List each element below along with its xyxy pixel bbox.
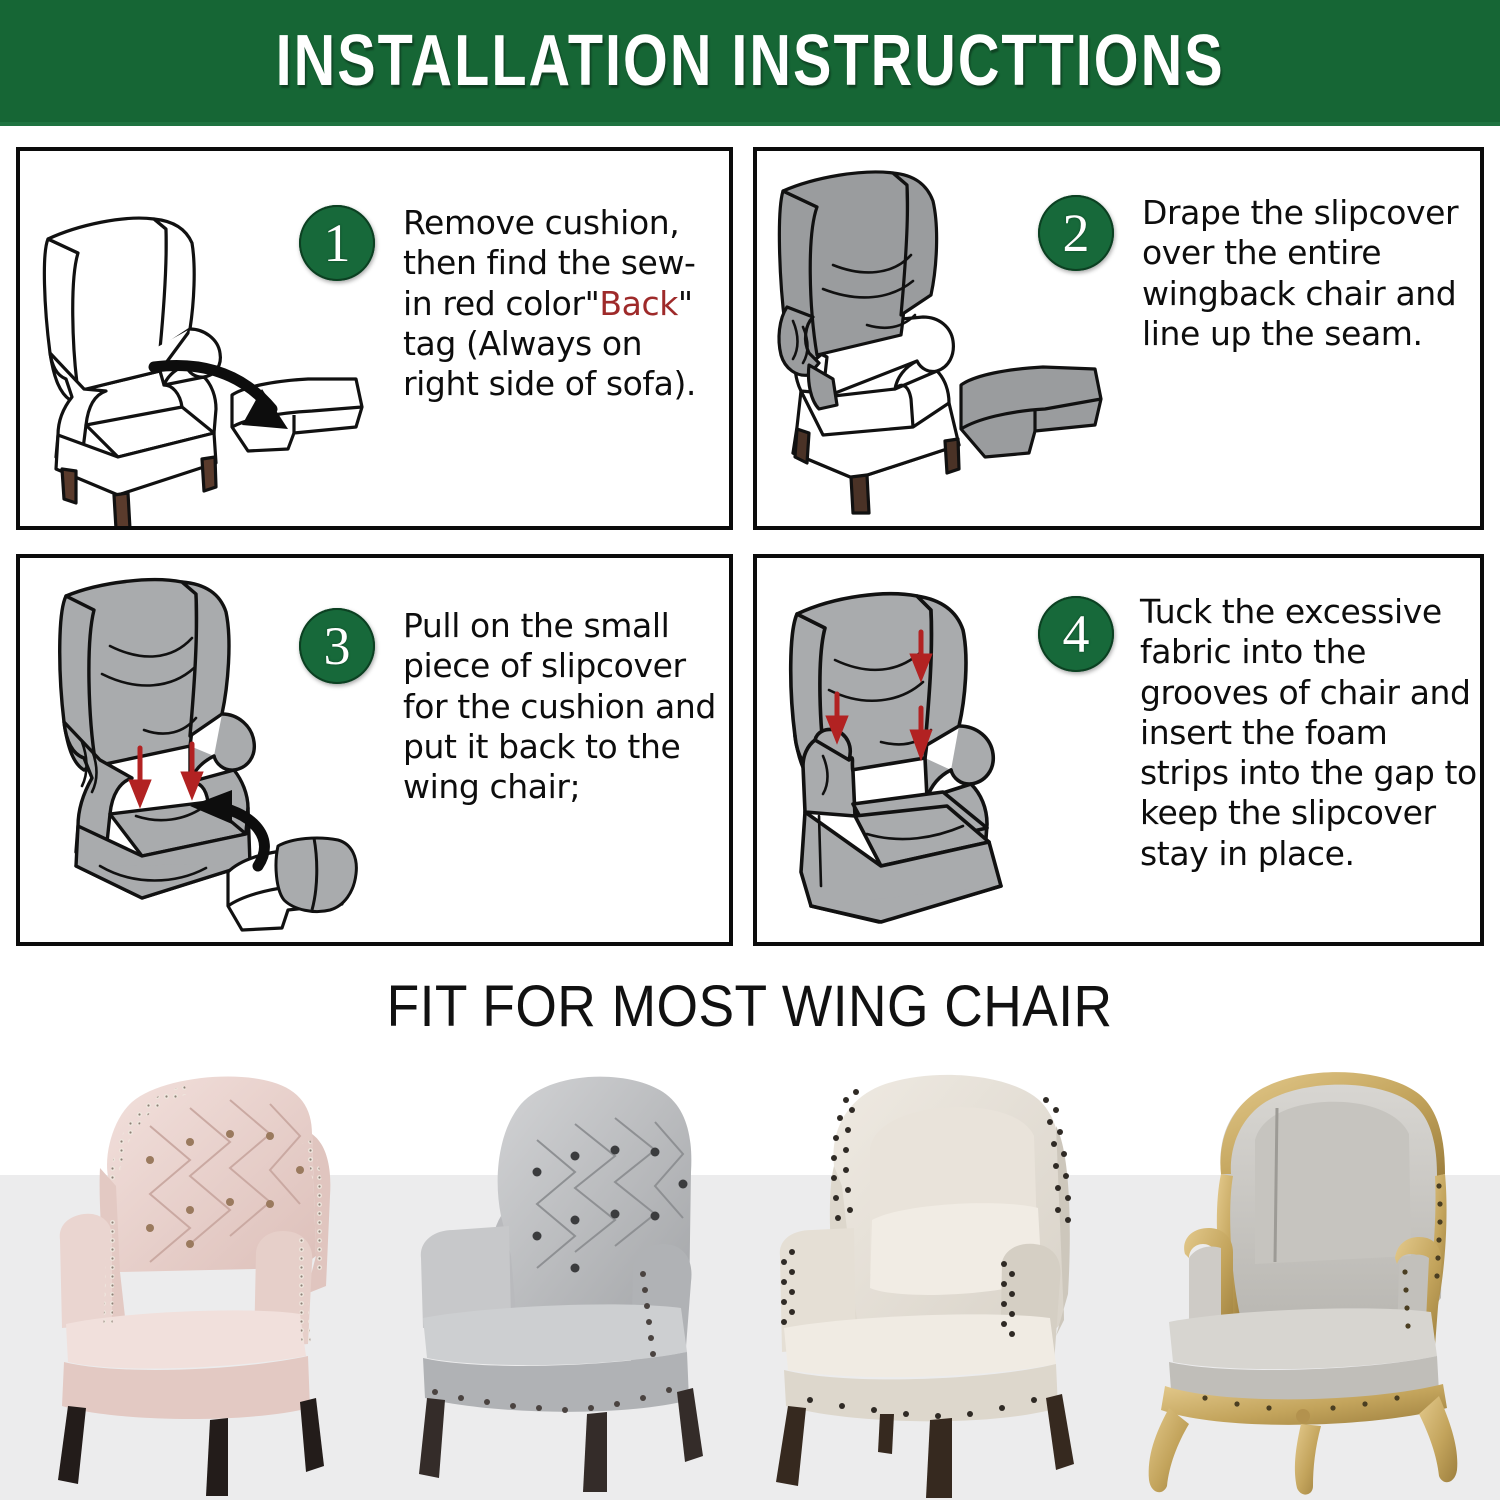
step-3-number-badge: 3 [299, 608, 375, 684]
step-1-number: 1 [324, 212, 351, 274]
step-4-number: 4 [1063, 603, 1090, 665]
instruction-panel-1: 1 Remove cushion, then find the sew-in r… [16, 147, 733, 530]
step-1-number-badge: 1 [299, 205, 375, 281]
gallery-subtitle: FIT FOR MOST WING CHAIR [387, 973, 1113, 1040]
page-header: INSTALLATION INSTRUCTTIONS [0, 0, 1500, 122]
gallery-chair-cream-nailhead-wingback [750, 1056, 1125, 1500]
gallery-chair-gray-velvet-tufted [375, 1056, 750, 1500]
step-3-number: 3 [324, 615, 351, 677]
gallery-subtitle-band: FIT FOR MOST WING CHAIR [0, 956, 1500, 1056]
page-title: INSTALLATION INSTRUCTTIONS [276, 20, 1225, 102]
instruction-panel-4: 4 Tuck the excessive fabric into the gro… [753, 554, 1484, 946]
instruction-panel-3: 3 Pull on the small piece of slipcover f… [16, 554, 733, 946]
step-1-text: Remove cushion, then find the sew-in red… [403, 203, 723, 404]
step-2-text: Drape the slipcover over the entire wing… [1142, 193, 1477, 354]
instruction-panel-2: 2 Drape the slipcover over the entire wi… [753, 147, 1484, 530]
gallery-chair-french-gilt-wingback [1125, 1056, 1500, 1500]
step-2-number: 2 [1063, 202, 1090, 264]
gallery-chair-pink-tufted-wingback [0, 1056, 375, 1500]
step-3-text: Pull on the small piece of slipcover for… [403, 606, 733, 807]
step-1-highlight: Back [599, 284, 678, 323]
step-4-text: Tuck the excessive fabric into the groov… [1140, 592, 1480, 874]
instruction-panel-grid: 1 Remove cushion, then find the sew-in r… [0, 126, 1500, 956]
step-4-number-badge: 4 [1038, 596, 1114, 672]
chair-gallery [0, 1056, 1500, 1500]
step-2-number-badge: 2 [1038, 195, 1114, 271]
